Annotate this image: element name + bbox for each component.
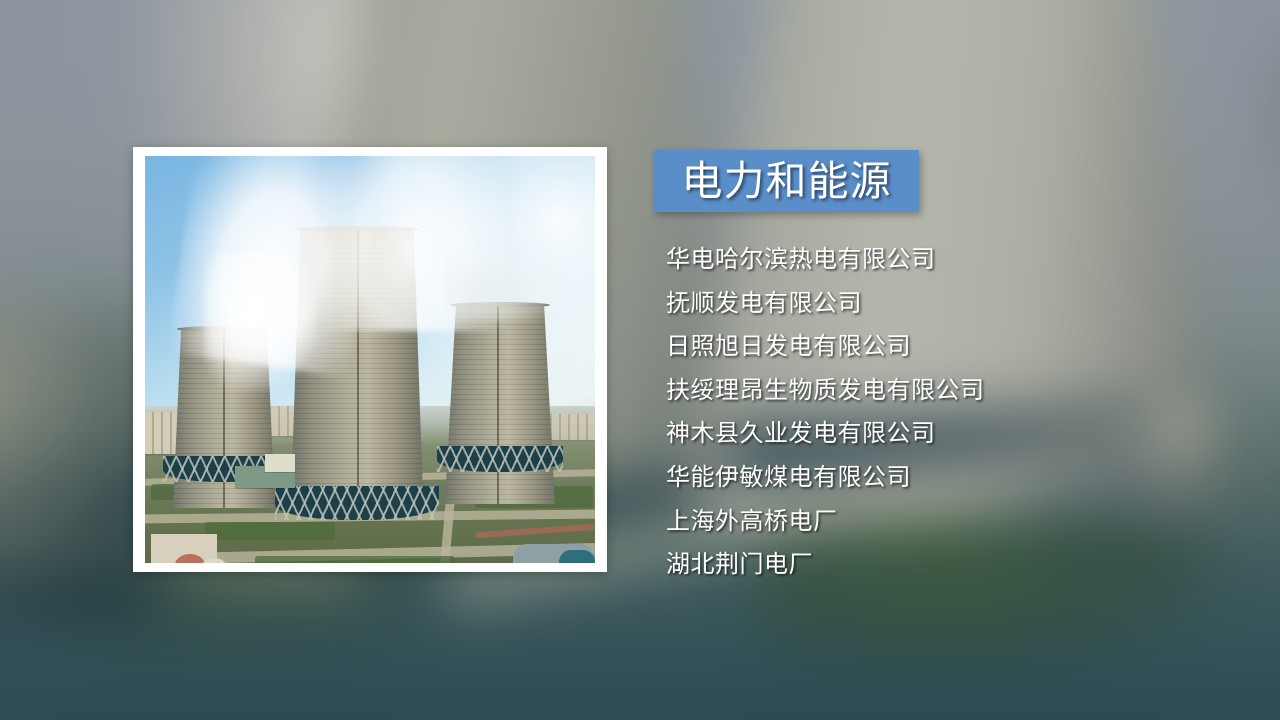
- photo-tower-base-center: [275, 486, 439, 520]
- photo-steam-plume-right: [445, 251, 565, 321]
- photo-tower-seam-right: [497, 306, 499, 504]
- slide-root: 电力和能源 华电哈尔滨热电有限公司 抚顺发电有限公司 日照旭日发电有限公司 扶绥…: [0, 0, 1280, 720]
- photo-green-patch-2: [205, 522, 335, 540]
- list-item: 日照旭日发电有限公司: [666, 325, 1246, 369]
- power-plant-photo: [145, 156, 595, 563]
- list-item: 上海外高桥电厂: [666, 500, 1246, 544]
- photo-green-patch-4: [255, 556, 455, 563]
- background-corner-shade: [1240, 20, 1280, 240]
- photo-tower-base-right: [437, 446, 563, 472]
- photo-frame: [133, 147, 607, 572]
- list-item: 扶绥理昂生物质发电有限公司: [666, 369, 1246, 413]
- list-item: 神木县久业发电有限公司: [666, 412, 1246, 456]
- list-item: 抚顺发电有限公司: [666, 282, 1246, 326]
- page-title: 电力和能源: [682, 161, 892, 202]
- photo-steam-plume-left-lower: [205, 251, 315, 391]
- company-list: 华电哈尔滨热电有限公司 抚顺发电有限公司 日照旭日发电有限公司 扶绥理昂生物质发…: [666, 238, 1246, 587]
- title-banner: 电力和能源: [654, 150, 919, 212]
- list-item: 华能伊敏煤电有限公司: [666, 456, 1246, 500]
- list-item: 华电哈尔滨热电有限公司: [666, 238, 1246, 282]
- photo-duct-right-2: [559, 550, 595, 563]
- photo-plant-building-white: [265, 454, 295, 472]
- list-item: 湖北荆门电厂: [666, 543, 1246, 587]
- photo-cooling-tower-right: [445, 304, 555, 504]
